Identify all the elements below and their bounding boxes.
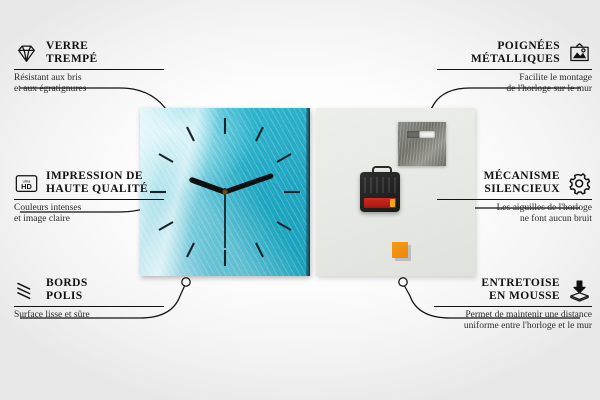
svg-text:HD: HD	[21, 181, 32, 190]
minute-hand	[225, 176, 271, 192]
feature-subtitle: Résistant aux briset aux égratignures	[14, 73, 164, 95]
hanger-slot	[407, 131, 435, 138]
battery-terminal	[390, 199, 395, 207]
mechanism-grill	[364, 177, 396, 193]
picture-hanger-icon	[567, 42, 592, 65]
feature-subtitle: Facilite le montagede l'horloge sur le m…	[437, 73, 592, 95]
feature-header: ENTRETOISEEN MOUSSE	[434, 277, 592, 303]
feature-title: IMPRESSION DEHAUTE QUALITÉ	[46, 170, 148, 196]
feature-poignees-metalliques: POIGNÉESMÉTALLIQUES Facilite le montaged…	[437, 40, 592, 95]
metal-hanger-plate	[398, 122, 446, 166]
feature-subtitle: Les aiguilles de l'horlogene font aucun …	[437, 203, 592, 225]
hour-hand	[192, 180, 225, 192]
feature-bords-polis: BORDSPOLIS Surface lisse et sûre	[14, 277, 164, 321]
feature-title: BORDSPOLIS	[46, 277, 88, 303]
battery	[364, 198, 396, 208]
clock-dial	[140, 108, 310, 276]
feature-title: VERRETREMPÉ	[46, 40, 98, 66]
foam-spacer	[392, 242, 408, 258]
feature-verre-trempe: VERRETREMPÉ Résistant aux briset aux égr…	[14, 40, 164, 95]
feature-entretoise-en-mousse: ENTRETOISEEN MOUSSE Permet de maintenir …	[434, 277, 592, 332]
clock-front-face	[140, 108, 310, 276]
feature-header: ultra HD IMPRESSION DEHAUTE QUALITÉ	[14, 170, 164, 196]
feature-title: MÉCANISMESILENCIEUX	[484, 170, 560, 196]
clock-right-edge	[306, 108, 310, 276]
clock-mechanism	[360, 172, 400, 212]
feature-header: MÉCANISMESILENCIEUX	[437, 170, 592, 196]
feature-header: POIGNÉESMÉTALLIQUES	[437, 40, 592, 66]
mechanism-hook	[372, 166, 392, 177]
gear-icon	[567, 172, 592, 195]
connector-dot-entretoise	[399, 278, 407, 286]
feature-header: BORDSPOLIS	[14, 277, 164, 303]
diamond-icon	[14, 42, 39, 65]
feature-divider	[14, 199, 164, 200]
feature-divider	[437, 69, 592, 70]
feature-subtitle: Permet de maintenir une distanceuniforme…	[434, 310, 592, 332]
feature-divider	[437, 199, 592, 200]
foam-spacer-icon	[567, 279, 592, 302]
feature-title: POIGNÉESMÉTALLIQUES	[471, 40, 560, 66]
ultra-hd-badge-icon: ultra HD	[14, 172, 39, 195]
clock-center-pin	[222, 189, 227, 194]
feature-subtitle: Surface lisse et sûre	[14, 310, 164, 321]
feature-header: VERRETREMPÉ	[14, 40, 164, 66]
feature-divider	[434, 306, 592, 307]
feature-mecanisme-silencieux: MÉCANISMESILENCIEUX Les aiguilles de l'h…	[437, 170, 592, 225]
connector-dot-bords-polis	[182, 278, 190, 286]
feature-title: ENTRETOISEEN MOUSSE	[481, 277, 560, 303]
feature-divider	[14, 69, 164, 70]
polished-edges-icon	[14, 279, 39, 302]
feature-divider	[14, 306, 164, 307]
feature-impression-haute-qualite: ultra HD IMPRESSION DEHAUTE QUALITÉ Coul…	[14, 170, 164, 225]
feature-subtitle: Couleurs intenseset image claire	[14, 203, 164, 225]
infographic-canvas: VERRETREMPÉ Résistant aux briset aux égr…	[0, 0, 600, 400]
product-image	[140, 108, 475, 276]
